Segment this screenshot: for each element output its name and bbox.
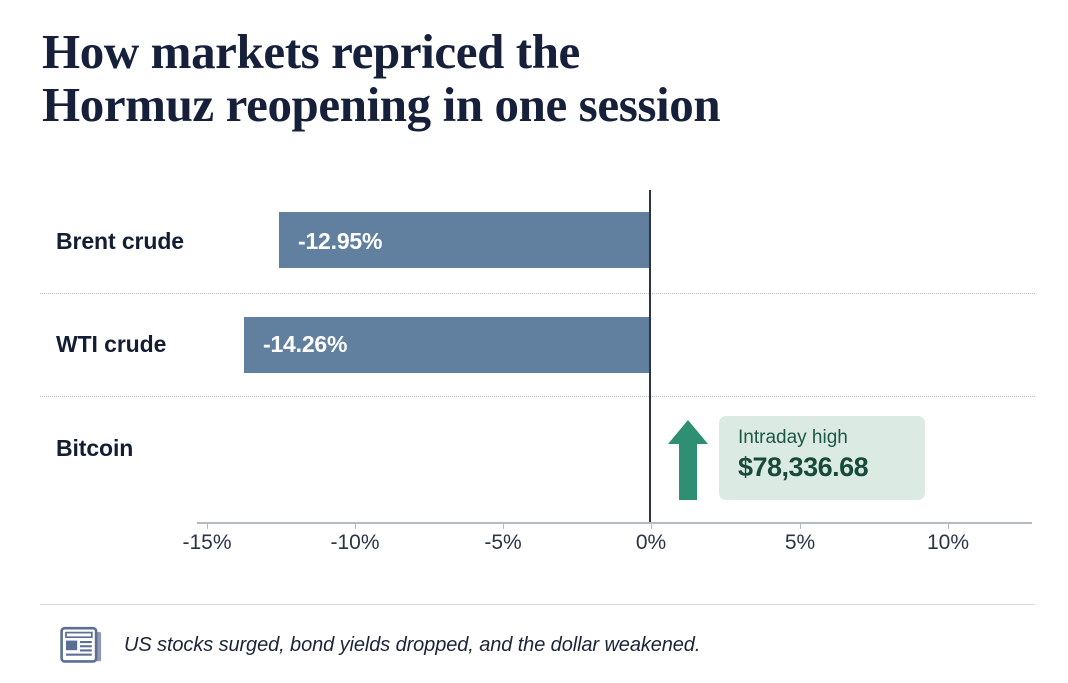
x-axis-tick <box>355 522 356 529</box>
newspaper-icon <box>60 626 102 664</box>
x-axis-tick <box>948 522 949 529</box>
category-label-bitcoin: Bitcoin <box>56 435 133 462</box>
x-axis-tick <box>800 522 801 529</box>
category-label-wti-crude: WTI crude <box>56 331 166 358</box>
zero-axis-line <box>649 190 651 523</box>
footer-divider <box>40 604 1035 605</box>
x-axis-line <box>197 522 1032 524</box>
category-label-brent-crude: Brent crude <box>56 228 184 255</box>
row-separator <box>40 396 1035 397</box>
up-arrow-icon <box>666 418 710 502</box>
footer-note-text: US stocks surged, bond yields dropped, a… <box>124 634 700 657</box>
row-separator <box>40 293 1035 294</box>
x-axis-tick-label: 0% <box>636 531 666 555</box>
x-axis-tick-label: -10% <box>330 531 379 555</box>
x-axis-tick-label: -5% <box>484 531 521 555</box>
chart-plot-area: Brent crude -12.95% WTI crude -14.26% Bi… <box>0 0 1068 600</box>
footer-note: US stocks surged, bond yields dropped, a… <box>60 626 700 664</box>
x-axis-tick-label: -15% <box>182 531 231 555</box>
x-axis-tick-label: 5% <box>785 531 815 555</box>
bar-value-brent-crude: -12.95% <box>298 228 382 255</box>
x-axis-tick <box>207 522 208 529</box>
callout-label: Intraday high <box>738 427 925 449</box>
intraday-high-callout: Intraday high $78,336.68 <box>719 416 925 500</box>
x-axis-tick-label: 10% <box>927 531 969 555</box>
x-axis-tick <box>503 522 504 529</box>
bar-value-wti-crude: -14.26% <box>263 331 347 358</box>
x-axis-tick <box>651 522 652 529</box>
callout-value: $78,336.68 <box>738 451 925 483</box>
